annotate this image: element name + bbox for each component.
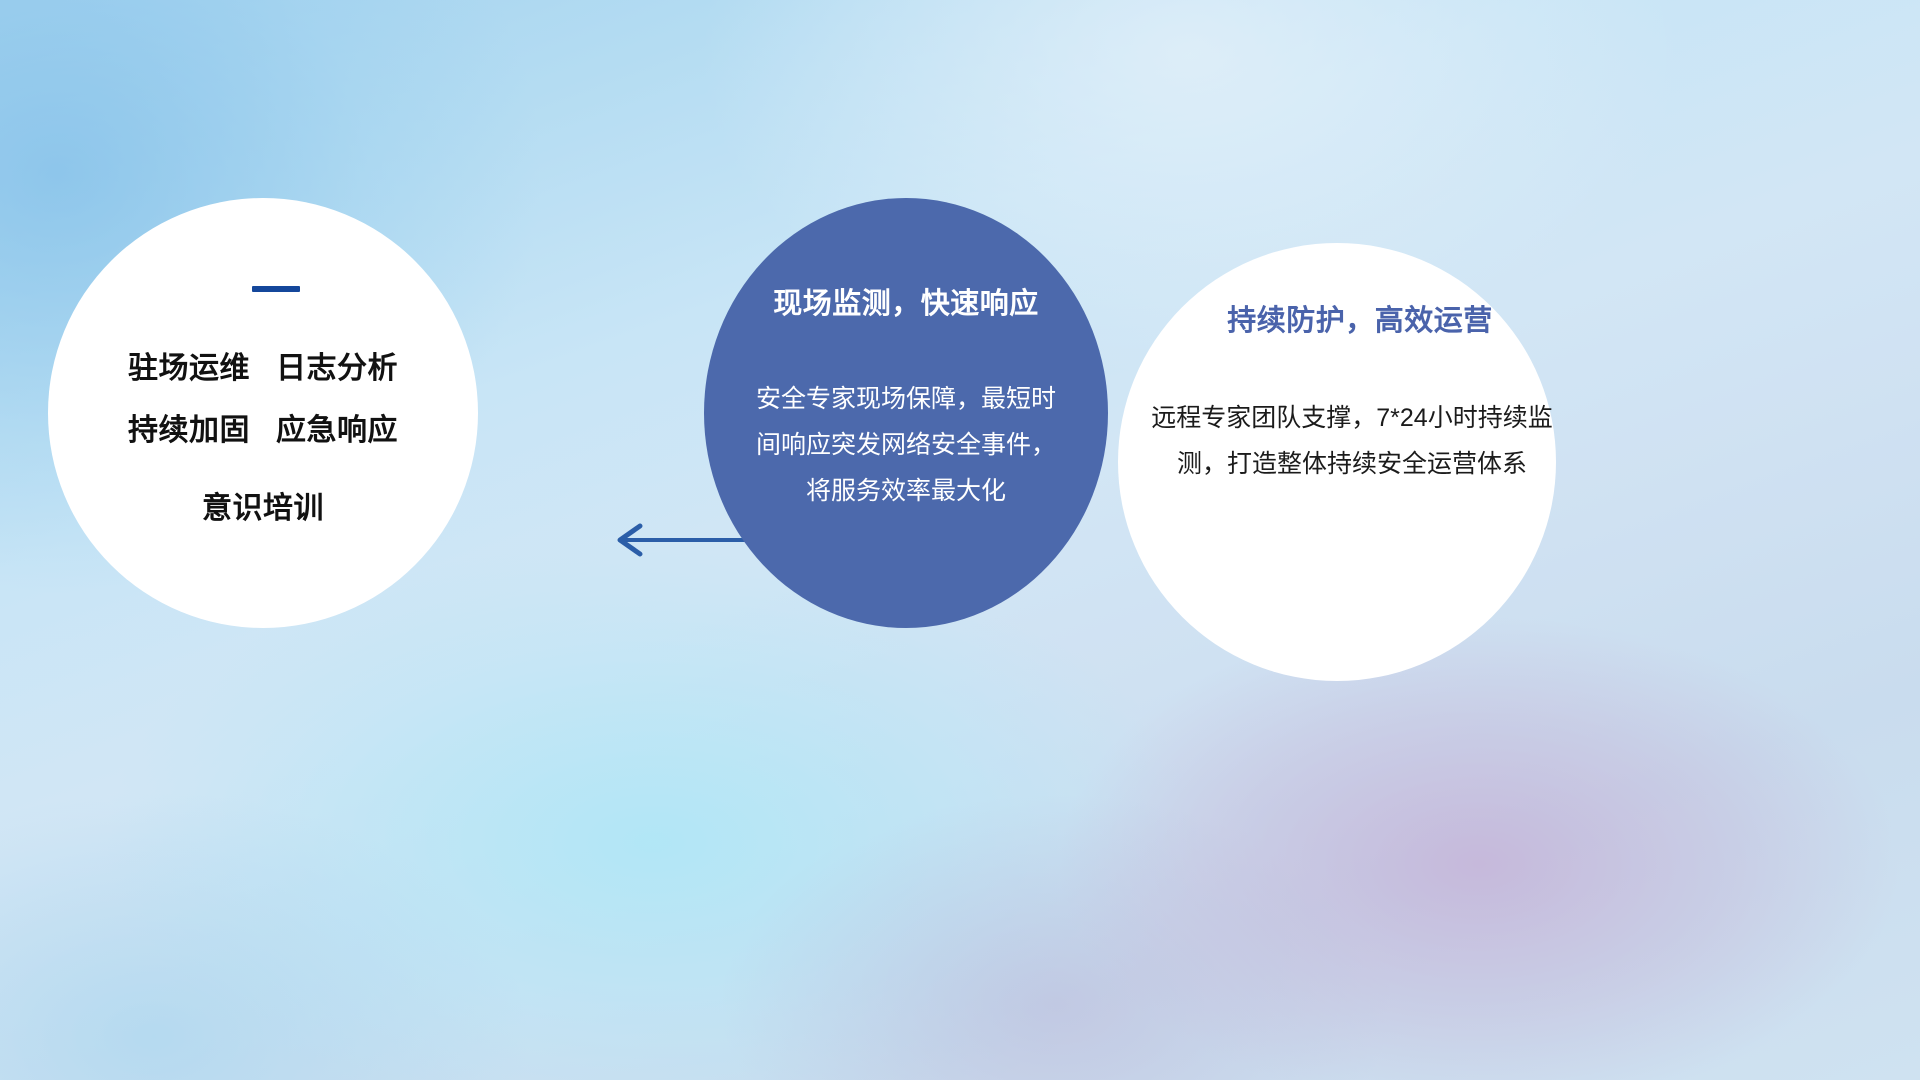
middle-card-title: 现场监测，快速响应 xyxy=(773,280,1039,322)
capability-circle-left[interactable]: 驻场运维日志分析 持续加固应急响应 意识培训 xyxy=(48,198,478,628)
capability-row-3: 意识培训 xyxy=(202,478,324,540)
accent-dash-divider xyxy=(252,286,300,292)
capability-keyword-3: 持续加固 xyxy=(128,414,250,447)
capability-keyword-5: 意识培训 xyxy=(202,492,324,525)
capability-keyword-1: 驻场运维 xyxy=(128,352,250,385)
capability-keyword-list: 驻场运维日志分析 持续加固应急响应 意识培训 xyxy=(128,338,398,540)
capability-row-2: 持续加固应急响应 xyxy=(128,400,398,462)
middle-card-body: 安全专家现场保障，最短时间响应突发网络安全事件，将服务效率最大化 xyxy=(750,376,1062,514)
capability-circle-middle[interactable]: 现场监测，快速响应 安全专家现场保障，最短时间响应突发网络安全事件，将服务效率最… xyxy=(704,198,1108,628)
right-card-body: 远程专家团队支撑，7*24小时持续监测，打造整体持续安全运营体系 xyxy=(1142,395,1562,487)
capability-circle-right[interactable]: 持续防护，高效运营 远程专家团队支撑，7*24小时持续监测，打造整体持续安全运营… xyxy=(1118,243,1556,681)
capability-keyword-2: 日志分析 xyxy=(276,352,398,385)
right-card-title: 持续防护，高效运营 xyxy=(1227,297,1493,339)
slide-canvas: 驻场运维日志分析 持续加固应急响应 意识培训 持续防护，高效运营 远程专家团队支… xyxy=(0,0,1920,1080)
capability-keyword-4: 应急响应 xyxy=(276,414,398,447)
capability-row-1: 驻场运维日志分析 xyxy=(128,338,398,400)
